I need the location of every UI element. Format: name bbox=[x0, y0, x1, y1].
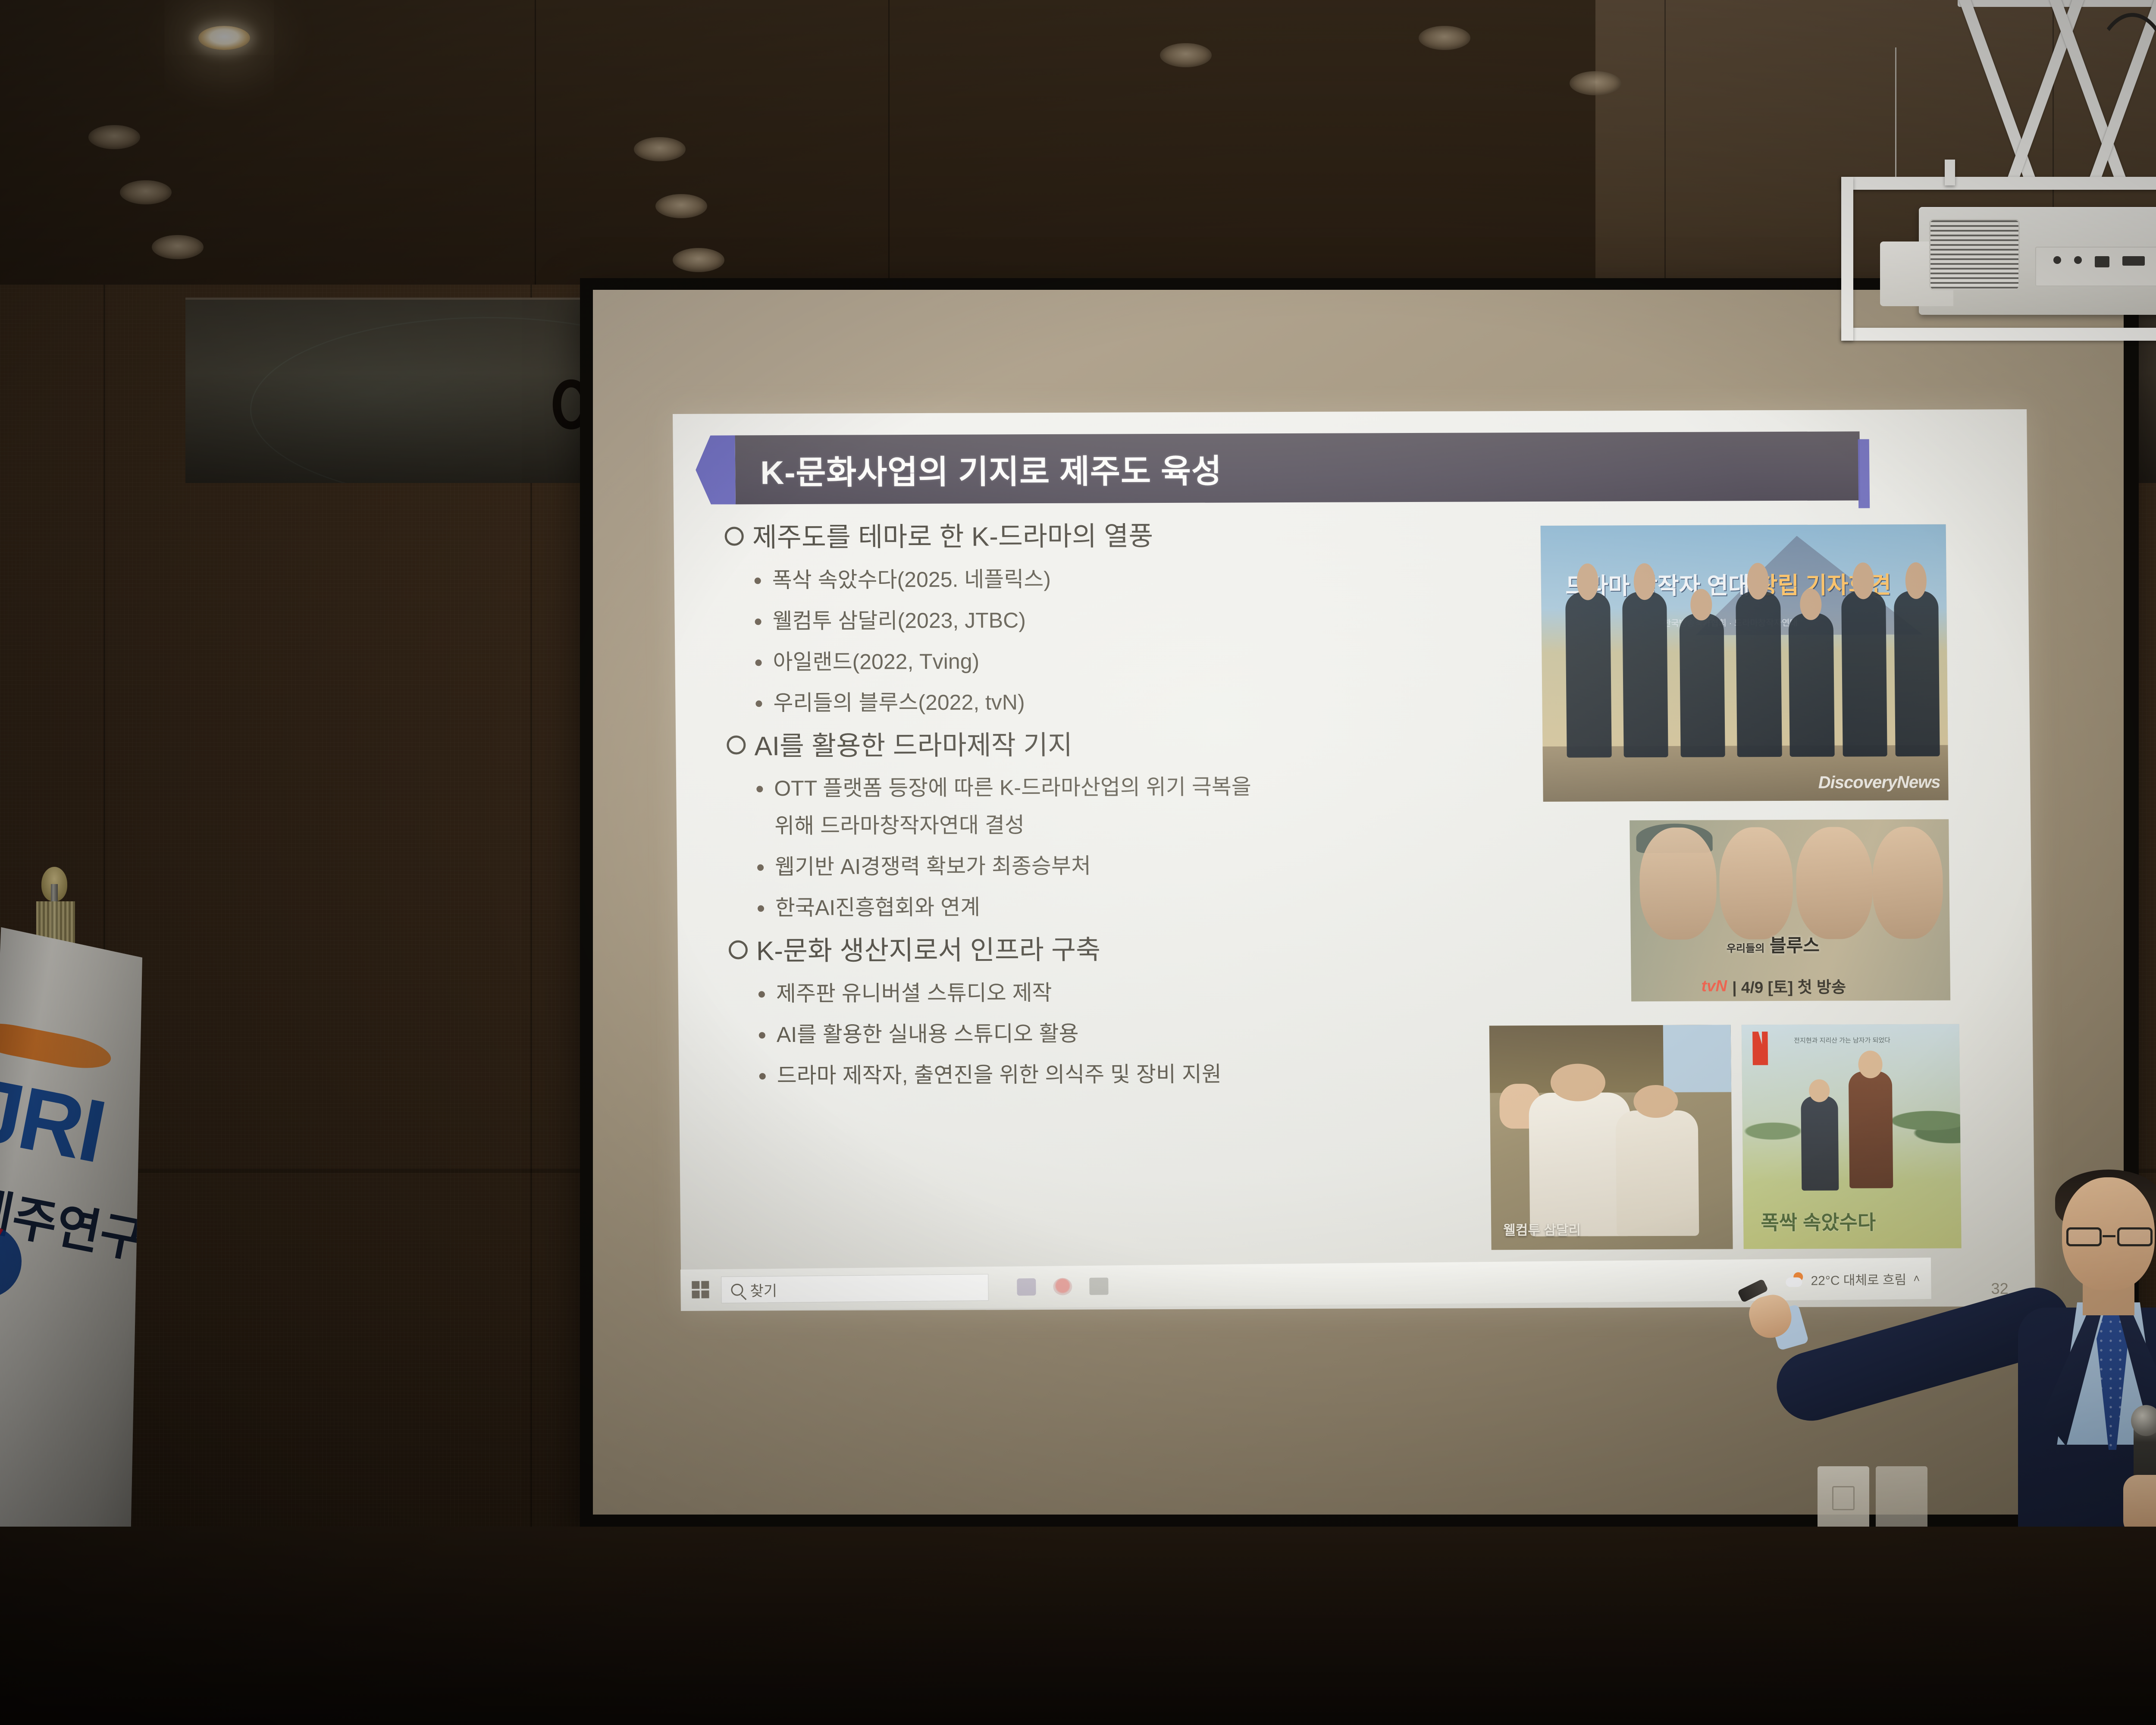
slide-media-column: 드라마 창작자 연대 창립 기자회견 한국방송작가협회 · 드라마창작자연대 D… bbox=[1484, 517, 2009, 1252]
bullet-item: 제주판 유니버셜 스튜디오 제작 bbox=[758, 977, 1489, 1008]
poster-figure-head bbox=[1551, 1064, 1606, 1101]
poster-face bbox=[1639, 827, 1717, 940]
section-heading-row: K-문화 생산지로서 인프라 구축 bbox=[729, 933, 1488, 968]
cage-post bbox=[1945, 160, 1955, 185]
slide-section: 제주도를 테마로 한 K-드라마의 열풍 폭삭 속았수다(2025. 네플릭스)… bbox=[724, 519, 1485, 717]
bullet-text: 제주판 유니버셜 스튜디오 제작 bbox=[776, 979, 1052, 1008]
stage-floor bbox=[0, 1527, 2156, 1725]
bullet-item: 드라마 제작자, 출연진을 위한 의식주 및 장비 지원 bbox=[759, 1059, 1489, 1090]
projector-vent bbox=[1929, 219, 2020, 290]
section-heading: K-문화 생산지로서 인프라 구축 bbox=[756, 934, 1101, 968]
photo-person bbox=[1565, 592, 1611, 757]
section-heading: 제주도를 테마로 한 K-드라마의 열풍 bbox=[752, 520, 1153, 554]
projector-cage bbox=[1841, 177, 2156, 341]
poster-figure bbox=[1616, 1110, 1699, 1236]
dot-bullet-icon bbox=[755, 700, 762, 707]
ceiling-downlight bbox=[1160, 43, 1212, 67]
slide-section: AI를 활용한 드라마제작 기지 OTT 플랫폼 등장에 따른 K-드라마산업의… bbox=[727, 728, 1487, 922]
poster-title: 웰컴투 삼달리 bbox=[1503, 1223, 1581, 1239]
ceiling-downlight bbox=[1570, 71, 1621, 95]
ceiling-seam bbox=[535, 0, 536, 302]
bullet-item: OTT 플랫폼 등장에 따른 K-드라마산업의 위기 극복을 위해 드라마창작자… bbox=[756, 772, 1486, 841]
dot-bullet-icon bbox=[756, 786, 763, 793]
projector bbox=[1919, 207, 2156, 315]
poster-title-main: 블루스 bbox=[1770, 935, 1820, 956]
dot-bullet-icon bbox=[759, 1032, 765, 1038]
cage-edge bbox=[1841, 177, 1853, 341]
photo-person-head bbox=[1747, 563, 1768, 599]
bullet-item: 폭삭 속았수다(2025. 네플릭스) bbox=[754, 564, 1484, 594]
taskbar-system-tray[interactable]: 22°C 대체로 흐림 ˄ bbox=[1786, 1269, 1920, 1289]
search-placeholder: 찾기 bbox=[750, 1279, 777, 1300]
cage-edge bbox=[1841, 177, 2156, 190]
photo-person-head bbox=[1905, 562, 1927, 599]
ceiling-seam bbox=[888, 0, 890, 302]
dot-bullet-icon bbox=[758, 991, 765, 997]
bullet-item: 우리들의 블루스(2022, tvN) bbox=[755, 687, 1485, 717]
bullet-text-wrap: OTT 플랫폼 등장에 따른 K-드라마산업의 위기 극복을 위해 드라마창작자… bbox=[774, 773, 1252, 841]
taskbar-search-box[interactable]: 찾기 bbox=[721, 1274, 989, 1303]
circle-bullet-icon bbox=[727, 735, 746, 754]
photo-person bbox=[1894, 590, 1940, 756]
poster-airing-row: tvN | 4/9 [토] 첫 방송 bbox=[1631, 973, 1951, 998]
circle-bullet-icon bbox=[725, 527, 744, 546]
presentation-room-scene: 이재명 ㅢ 대응 K-문화사업의 기지로 제주도 육성 bbox=[0, 0, 2156, 1725]
bullet-text: 한국AI진흥협회와 연계 bbox=[775, 894, 981, 922]
photo-person-head bbox=[1633, 563, 1655, 600]
photo-person bbox=[1736, 591, 1782, 757]
bullet-text: OTT 플랫폼 등장에 따른 K-드라마산업의 위기 극복을 bbox=[774, 775, 1251, 801]
dot-bullet-icon bbox=[758, 905, 764, 912]
photo-person bbox=[1679, 613, 1725, 757]
poster-title-small: 우리들의 bbox=[1727, 943, 1765, 954]
cage-edge bbox=[1841, 328, 2156, 341]
photo-person-head bbox=[1577, 564, 1598, 600]
bullet-item: 웰컴투 삼달리(2023, JTBC) bbox=[755, 605, 1485, 635]
ceiling-downlight bbox=[673, 248, 724, 272]
taskbar-app-icon[interactable] bbox=[1089, 1277, 1108, 1295]
bullet-text: 웹기반 AI경쟁력 확보가 최종승부처 bbox=[775, 852, 1091, 881]
photo-person bbox=[1622, 592, 1668, 757]
wall-outlet bbox=[1818, 1466, 1869, 1531]
bullet-text: 드라마 제작자, 출연진을 위한 의식주 및 장비 지원 bbox=[777, 1060, 1222, 1090]
photo-person-head bbox=[1800, 589, 1821, 620]
ceiling-downlight bbox=[655, 194, 707, 218]
poster-welcome-to-samdalri: 웰컴투 삼달리 bbox=[1489, 1025, 1733, 1250]
poster-face bbox=[1796, 827, 1873, 939]
ceiling-downlight bbox=[120, 180, 172, 204]
section-heading-row: 제주도를 테마로 한 K-드라마의 열풍 bbox=[724, 519, 1484, 554]
wall-seam bbox=[530, 285, 532, 1725]
weather-text[interactable]: 22°C 대체로 흐림 bbox=[1811, 1269, 1906, 1289]
bullet-item: 아일랜드(2022, Tving) bbox=[755, 646, 1485, 676]
projected-slide: K-문화사업의 기지로 제주도 육성 제주도를 테마로 한 K-드라마의 열풍 bbox=[673, 409, 2035, 1311]
start-button-icon[interactable] bbox=[692, 1281, 710, 1299]
poster-figure bbox=[1801, 1096, 1839, 1191]
poster-figure bbox=[1849, 1071, 1893, 1188]
projector-ports bbox=[2035, 247, 2156, 286]
presenter-mic-hand bbox=[2123, 1475, 2156, 1535]
dot-bullet-icon bbox=[759, 1073, 766, 1079]
poster-title: 우리들의 블루스 bbox=[1727, 931, 1820, 958]
poster-sky bbox=[1663, 1025, 1731, 1092]
press-conference-photo: 드라마 창작자 연대 창립 기자회견 한국방송작가협회 · 드라마창작자연대 D… bbox=[1541, 524, 1949, 802]
ceiling-downlight bbox=[634, 137, 686, 161]
channel-logo-tvn: tvN bbox=[1701, 977, 1727, 995]
bullet-text: 우리들의 블루스(2022, tvN) bbox=[773, 688, 1025, 717]
bullet-text: 폭삭 속았수다(2025. 네플릭스) bbox=[772, 565, 1051, 594]
photo-person-head bbox=[1852, 563, 1874, 599]
ceiling-downlight bbox=[152, 235, 204, 259]
dot-bullet-icon bbox=[755, 577, 761, 584]
scissor-arm bbox=[2005, 0, 2085, 188]
taskbar-pinned-icons[interactable] bbox=[1017, 1277, 1108, 1295]
ceiling-downlight bbox=[88, 125, 140, 149]
ceiling-projector-rig bbox=[1815, 0, 2156, 362]
poster-airing-text: | 4/9 [토] 첫 방송 bbox=[1732, 974, 1846, 997]
bullet-text-continuation: 위해 드라마창작자연대 결성 bbox=[774, 811, 1252, 841]
dot-bullet-icon bbox=[757, 865, 764, 871]
dot-bullet-icon bbox=[755, 618, 761, 625]
section-heading: AI를 활용한 드라마제작 기지 bbox=[754, 729, 1072, 762]
chevron-icon bbox=[695, 435, 736, 504]
slide-title-bar: K-문화사업의 기지로 제주도 육성 bbox=[695, 431, 1860, 504]
poster-figure-head bbox=[1633, 1085, 1678, 1118]
bullet-item: AI를 활용한 실내용 스튜디오 활용 bbox=[759, 1018, 1489, 1049]
bullet-item: 웹기반 AI경쟁력 확보가 최종승부처 bbox=[757, 851, 1487, 881]
slide-title: K-문화사업의 기지로 제주도 육성 bbox=[760, 445, 1222, 494]
slide-text-column: 제주도를 테마로 한 K-드라마의 열풍 폭삭 속았수다(2025. 네플릭스)… bbox=[724, 519, 1489, 1103]
photo-person bbox=[1841, 591, 1887, 756]
bullet-text: 아일랜드(2022, Tving) bbox=[773, 647, 979, 676]
photo-watermark: DiscoveryNews bbox=[1818, 773, 1940, 793]
poster-face bbox=[1872, 827, 1943, 939]
poster-face bbox=[1719, 827, 1793, 940]
ceiling-downlight bbox=[1419, 26, 1470, 50]
safety-wire bbox=[1895, 47, 1896, 177]
poster-tagline: 전지현과 지리산 가는 남자가 되었다 bbox=[1794, 1035, 1890, 1045]
taskbar-app-icon[interactable] bbox=[1053, 1278, 1072, 1295]
dot-bullet-icon bbox=[755, 659, 761, 666]
glasses-icon bbox=[2066, 1227, 2153, 1246]
poster-figure-head bbox=[1809, 1079, 1830, 1102]
photo-person bbox=[1789, 613, 1835, 756]
poster-our-blues: 우리들의 블루스 tvN | 4/9 [토] 첫 방송 bbox=[1630, 819, 1950, 1002]
bullet-text: AI를 활용한 실내용 스튜디오 활용 bbox=[777, 1020, 1079, 1049]
section-heading-row: AI를 활용한 드라마제작 기지 bbox=[727, 728, 1486, 763]
poster-title: 폭싹 속았수다 bbox=[1761, 1207, 1876, 1236]
ceiling-seam bbox=[1664, 0, 1666, 302]
photo-person-head bbox=[1690, 589, 1712, 621]
poster-figure-head bbox=[1858, 1051, 1883, 1079]
bullet-item: 한국AI진흥협회와 연계 bbox=[758, 892, 1488, 922]
weather-icon bbox=[1786, 1272, 1804, 1287]
taskbar-app-icon[interactable] bbox=[1017, 1278, 1036, 1295]
ceiling-downlight bbox=[198, 26, 250, 50]
search-icon bbox=[731, 1284, 743, 1296]
circle-bullet-icon bbox=[729, 941, 748, 960]
bullet-text: 웰컴투 삼달리(2023, JTBC) bbox=[772, 606, 1026, 635]
slide-section: K-문화 생산지로서 인프라 구축 제주판 유니버셜 스튜디오 제작 AI를 활… bbox=[729, 933, 1489, 1090]
